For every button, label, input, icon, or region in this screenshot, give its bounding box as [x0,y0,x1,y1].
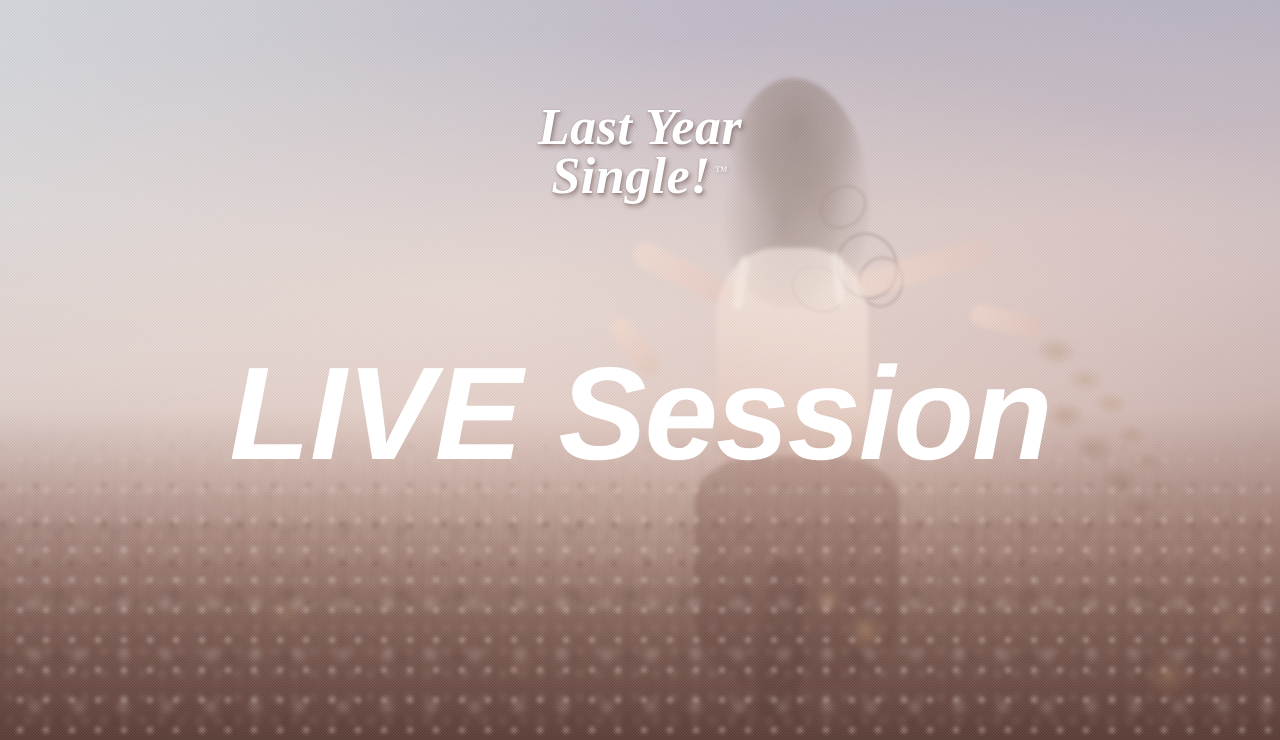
brand-logo: Last Year Single!™ [0,104,1280,202]
logo-line-1: Last Year [0,104,1280,153]
headline-word-session: Session [558,340,1050,487]
trademark-symbol: ™ [715,163,729,178]
logo-line-2: Single!™ [0,153,1280,202]
page-title: LIVE Session [0,348,1280,480]
headline-word-live: LIVE [229,340,522,487]
logo-line-2-text: Single! [551,148,711,205]
promo-banner: Last Year Single!™ LIVE Session [0,0,1280,740]
headline-space [523,340,559,487]
